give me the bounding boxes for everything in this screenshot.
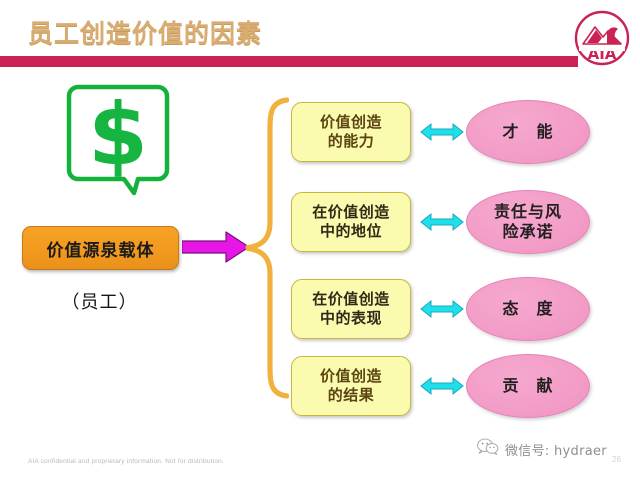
result-ellipse-4-label: 贡 献 xyxy=(502,376,553,396)
factor-box-4: 价值创造 的结果 xyxy=(291,356,411,416)
result-ellipse-3-label: 态 度 xyxy=(502,299,553,319)
double-arrow-icon-1 xyxy=(420,121,464,143)
double-arrow-icon-2 xyxy=(420,211,464,233)
header-accent-bar xyxy=(0,56,578,67)
value-source-sublabel: （员工） xyxy=(22,288,177,314)
factor-box-2: 在价值创造 中的地位 xyxy=(291,192,411,252)
wechat-watermark: 微信号: hydraer xyxy=(477,438,607,461)
page-title: 员工创造价值的因素 xyxy=(28,14,262,50)
slide-canvas: 员工创造价值的因素 AIA $ 价值源泉载体 （员工） xyxy=(0,0,640,480)
value-source-box: 价值源泉载体 xyxy=(22,226,179,270)
wechat-id-label: 微信号: hydraer xyxy=(505,440,607,459)
double-arrow-icon-4 xyxy=(420,375,464,397)
factor-box-1-label: 价值创造 的能力 xyxy=(320,113,382,151)
result-ellipse-1: 才 能 xyxy=(466,100,590,164)
double-arrow-icon-3 xyxy=(420,298,464,320)
dollar-sign-icon: $ xyxy=(88,85,148,185)
factor-box-4-label: 价值创造 的结果 xyxy=(320,367,382,405)
result-ellipse-1-label: 才 能 xyxy=(502,122,553,142)
wechat-icon xyxy=(477,438,499,461)
result-ellipse-3: 态 度 xyxy=(466,277,590,341)
page-number: 26 xyxy=(612,455,621,464)
dollar-speech-bubble: $ xyxy=(66,84,170,196)
factor-box-2-label: 在价值创造 中的地位 xyxy=(312,203,390,241)
factor-box-3-label: 在价值创造 中的表现 xyxy=(312,290,390,328)
aia-wordmark: AIA xyxy=(588,45,617,63)
factor-box-3: 在价值创造 中的表现 xyxy=(291,279,411,339)
flow-arrow-icon xyxy=(182,230,250,264)
value-source-label: 价值源泉载体 xyxy=(47,236,155,261)
result-ellipse-2: 责任与风 险承诺 xyxy=(466,190,590,254)
factor-box-1: 价值创造 的能力 xyxy=(291,102,411,162)
svg-text:$: $ xyxy=(88,85,148,185)
result-ellipse-4: 贡 献 xyxy=(466,354,590,418)
result-ellipse-2-label: 责任与风 险承诺 xyxy=(494,202,562,242)
confidential-notice: AIA confidential and proprietary informa… xyxy=(28,458,224,465)
grouping-brace xyxy=(243,96,289,400)
aia-logo: AIA xyxy=(574,10,630,66)
